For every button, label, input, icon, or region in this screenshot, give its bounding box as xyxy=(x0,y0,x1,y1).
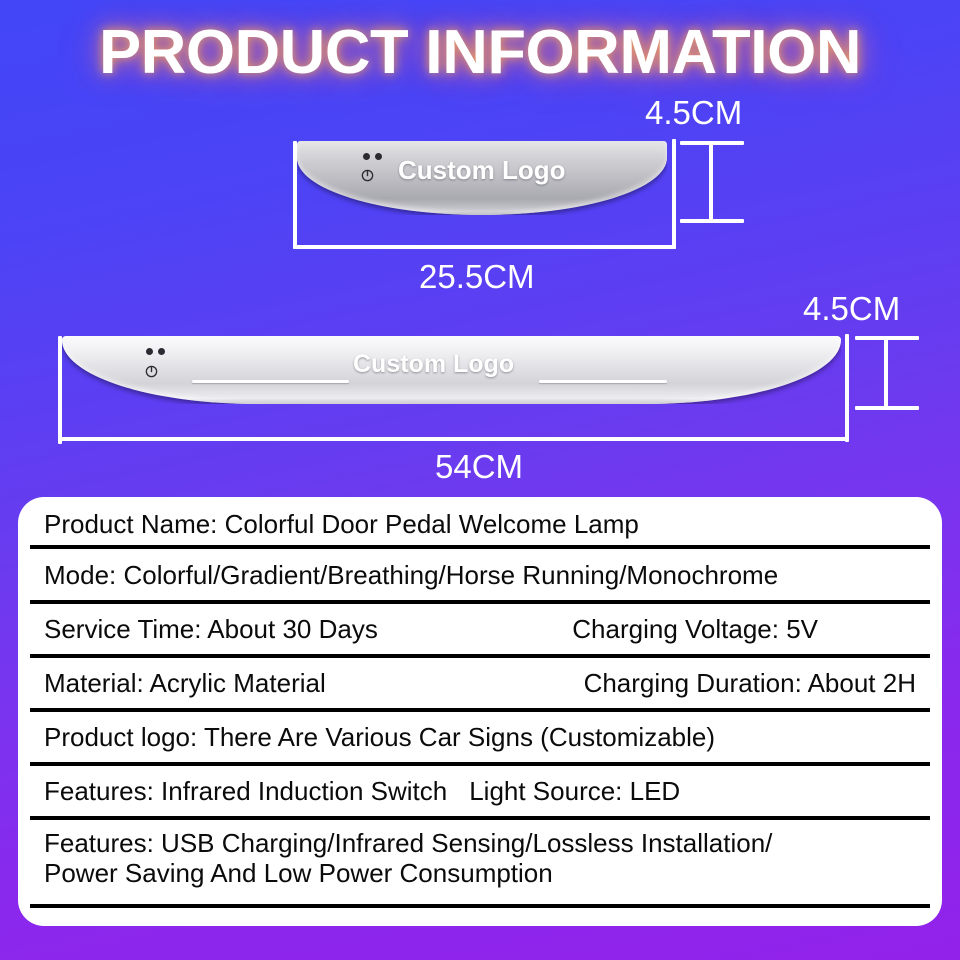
spec-mode: Mode: Colorful/Gradient/Breathing/Horse … xyxy=(44,560,778,590)
spec-row: Product Name: Colorful Door Pedal Welcom… xyxy=(30,497,930,549)
spec-features-switch: Features: Infrared Induction Switch xyxy=(44,776,447,806)
small-pedal-width-label: 25.5CM xyxy=(419,258,535,296)
spec-charging-voltage: Charging Voltage: 5V xyxy=(572,614,818,644)
spec-service-time: Service Time: About 30 Days xyxy=(44,614,378,644)
sensor-dots-icon xyxy=(363,153,382,160)
power-icon xyxy=(361,169,374,182)
small-width-bar xyxy=(293,245,676,249)
spec-row: Features: Infrared Induction Switch Ligh… xyxy=(30,766,930,820)
card-bottom-spacer xyxy=(18,908,942,926)
spec-features-line1: Features: USB Charging/Infrared Sensing/… xyxy=(44,828,916,858)
spec-product-name: Product Name: Colorful Door Pedal Welcom… xyxy=(44,509,639,539)
product-information-graphic: PRODUCT INFORMATION Custom Logo 4.5CM 25… xyxy=(0,0,960,960)
large-width-bar xyxy=(58,437,848,441)
spec-row: Service Time: About 30 Days Charging Vol… xyxy=(30,604,930,658)
large-pedal-height-label: 4.5CM xyxy=(803,290,900,328)
spec-row: Mode: Colorful/Gradient/Breathing/Horse … xyxy=(30,549,930,604)
spec-row: Product logo: There Are Various Car Sign… xyxy=(30,712,930,766)
spec-row: Material: Acrylic Material Charging Dura… xyxy=(30,658,930,712)
spec-row: Features: USB Charging/Infrared Sensing/… xyxy=(30,820,930,908)
small-height-cap-bottom xyxy=(680,219,744,223)
small-pedal-image: Custom Logo xyxy=(297,141,667,215)
specifications-card: Product Name: Colorful Door Pedal Welcom… xyxy=(18,497,942,926)
large-height-bar xyxy=(884,336,888,410)
spec-features-line2: Power Saving And Low Power Consumption xyxy=(44,858,916,888)
large-pedal-image: Custom Logo xyxy=(62,336,841,404)
small-pedal-height-label: 4.5CM xyxy=(645,94,742,132)
large-pedal-width-label: 54CM xyxy=(435,448,523,486)
sensor-dots-icon xyxy=(146,348,165,355)
small-pedal-logo-text: Custom Logo xyxy=(398,155,566,186)
small-height-extension xyxy=(672,139,676,249)
large-width-extension-left xyxy=(58,336,62,444)
logo-rule-left xyxy=(192,380,349,383)
page-title: PRODUCT INFORMATION xyxy=(0,16,960,90)
spec-material: Material: Acrylic Material xyxy=(44,668,326,698)
small-height-bar xyxy=(709,141,713,223)
large-height-extension xyxy=(845,334,849,442)
large-pedal-logo-text: Custom Logo xyxy=(353,350,514,379)
spec-product-logo: Product logo: There Are Various Car Sign… xyxy=(44,722,715,752)
large-height-cap-bottom xyxy=(855,406,919,410)
power-icon xyxy=(145,365,158,378)
spec-charging-duration: Charging Duration: About 2H xyxy=(584,668,916,698)
spec-light-source: Light Source: LED xyxy=(469,776,680,806)
small-width-extension-left xyxy=(293,141,297,249)
logo-rule-right xyxy=(539,380,667,383)
